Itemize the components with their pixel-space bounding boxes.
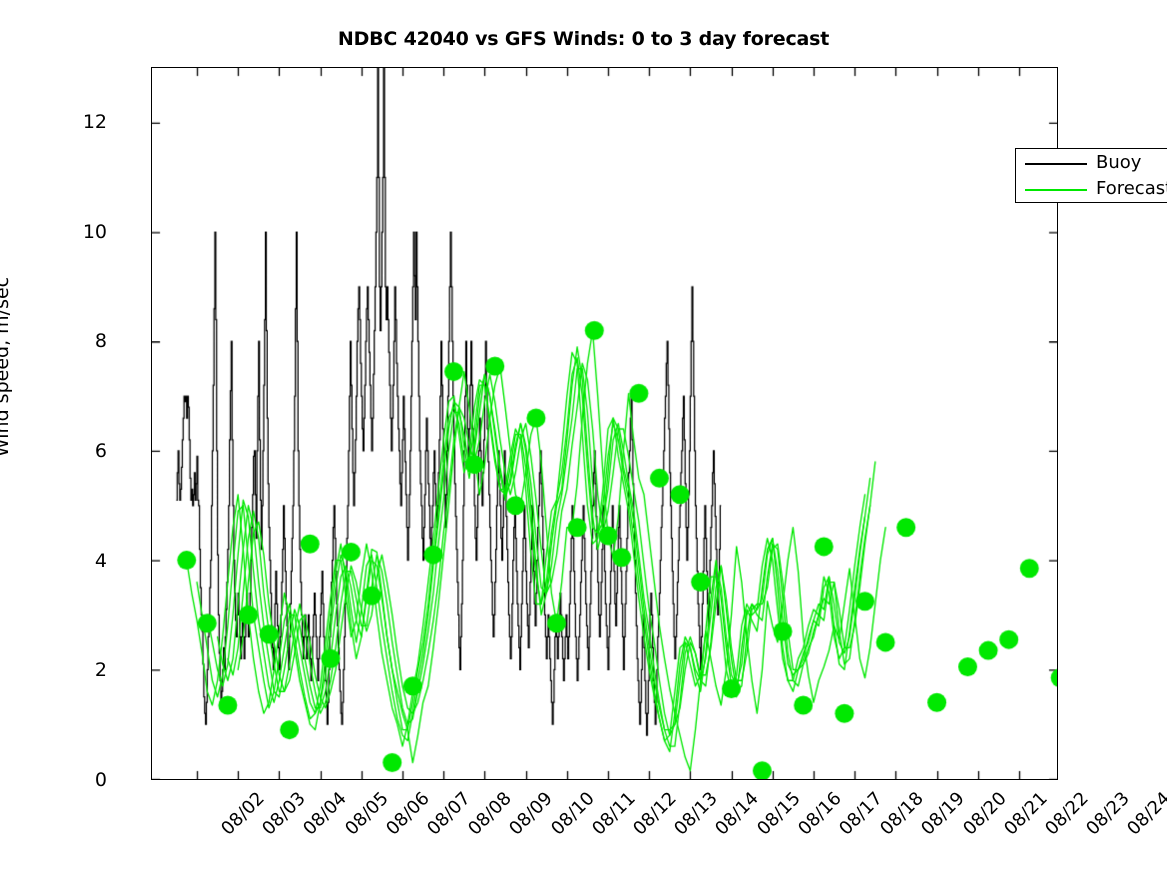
x-tick-label-4: 08/06 (382, 788, 434, 840)
y-tick-label-3: 6 (47, 440, 107, 462)
legend-item-buoy: Buoy (1016, 151, 1167, 177)
x-tick-label-21: 08/23 (1082, 788, 1134, 840)
x-tick-label-1: 08/03 (258, 788, 310, 840)
x-tick-label-16: 08/18 (876, 788, 928, 840)
legend-swatch-buoy (1025, 163, 1087, 165)
plot-area[interactable]: Buoy Forecast (151, 67, 1058, 780)
x-tick-label-2: 08/04 (300, 788, 352, 840)
plot-canvas (152, 68, 1057, 779)
x-tick-label-11: 08/13 (670, 788, 722, 840)
x-tick-label-15: 08/17 (835, 788, 887, 840)
legend-label-buoy: Buoy (1096, 152, 1141, 173)
y-tick-label-0: 0 (47, 769, 107, 791)
x-tick-label-6: 08/08 (464, 788, 516, 840)
legend-swatch-forecast (1025, 189, 1087, 191)
legend-item-forecast: Forecast (1016, 177, 1167, 203)
x-tick-label-20: 08/22 (1041, 788, 1093, 840)
x-tick-label-0: 08/02 (217, 788, 269, 840)
x-tick-label-10: 08/12 (629, 788, 681, 840)
legend-box: Buoy Forecast (1015, 148, 1167, 203)
figure-container: NDBC 42040 vs GFS Winds: 0 to 3 day fore… (0, 0, 1167, 875)
y-tick-label-1: 2 (47, 659, 107, 681)
x-tick-label-5: 08/07 (423, 788, 475, 840)
x-tick-label-12: 08/14 (712, 788, 764, 840)
x-tick-label-9: 08/11 (588, 788, 640, 840)
x-tick-label-18: 08/20 (959, 788, 1011, 840)
x-tick-label-19: 08/21 (1000, 788, 1052, 840)
x-tick-label-22: 08/24 (1124, 788, 1167, 840)
y-tick-label-4: 8 (47, 330, 107, 352)
x-tick-label-13: 08/15 (753, 788, 805, 840)
x-tick-label-3: 08/05 (341, 788, 393, 840)
x-tick-label-14: 08/16 (794, 788, 846, 840)
y-tick-label-5: 10 (47, 221, 107, 243)
chart-title: NDBC 42040 vs GFS Winds: 0 to 3 day fore… (0, 28, 1167, 50)
y-axis-label: Wind speed, m/sec (0, 0, 13, 867)
y-tick-label-2: 4 (47, 550, 107, 572)
legend-label-forecast: Forecast (1096, 178, 1167, 199)
x-tick-label-8: 08/10 (547, 788, 599, 840)
x-tick-label-7: 08/09 (506, 788, 558, 840)
y-tick-label-6: 12 (47, 111, 107, 133)
x-tick-label-17: 08/19 (918, 788, 970, 840)
